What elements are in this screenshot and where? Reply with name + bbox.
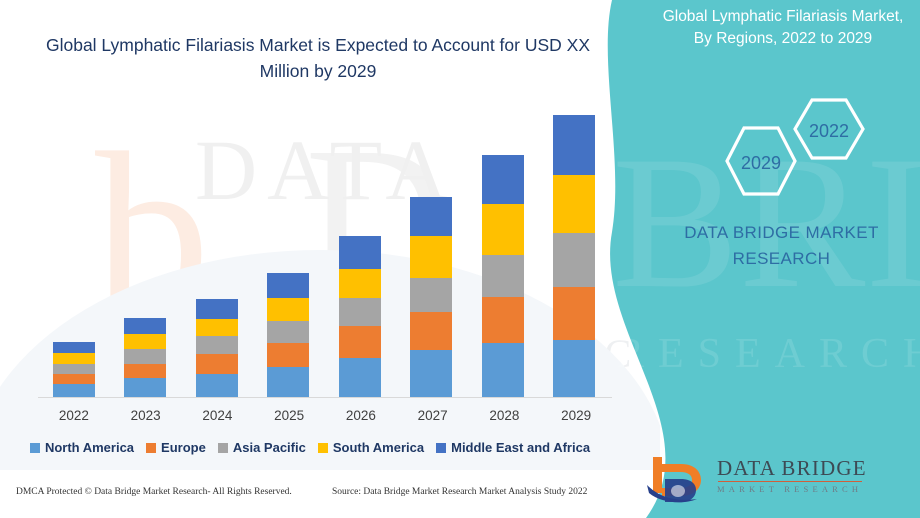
bar-segment[interactable] [410, 312, 452, 350]
bar-segment[interactable] [339, 298, 381, 326]
bar-segment[interactable] [124, 318, 166, 335]
legend-label: Asia Pacific [233, 440, 306, 455]
x-axis-tick-label: 2026 [325, 408, 397, 423]
legend-item[interactable]: Middle East and Africa [436, 440, 590, 455]
x-axis-tick-labels: 20222023202420252026202720282029 [38, 408, 612, 423]
bar-segment[interactable] [124, 334, 166, 349]
footer-dmca-text: DMCA Protected © Data Bridge Market Rese… [16, 487, 292, 497]
bar-slot [396, 110, 468, 397]
bar-segment[interactable] [267, 367, 309, 397]
bar-segment[interactable] [196, 374, 238, 397]
bar-segment[interactable] [53, 364, 95, 374]
bar-segment[interactable] [124, 378, 166, 397]
panel-brand-line1: DATA BRIDGE MARKET [649, 220, 914, 246]
stacked-bar[interactable] [339, 236, 381, 397]
bar-segment[interactable] [482, 204, 524, 255]
legend-item[interactable]: Asia Pacific [218, 440, 306, 455]
x-axis-tick-label: 2024 [182, 408, 254, 423]
x-axis-tick-label: 2027 [397, 408, 469, 423]
bar-segment[interactable] [267, 321, 309, 343]
x-axis-tick-label: 2025 [253, 408, 325, 423]
x-axis-tick-label: 2022 [38, 408, 110, 423]
x-axis-tick-label: 2023 [110, 408, 182, 423]
bar-segment[interactable] [53, 374, 95, 384]
bar-segment[interactable] [482, 297, 524, 343]
legend-label: Middle East and Africa [451, 440, 590, 455]
bar-slot [181, 110, 253, 397]
bar-slot [253, 110, 325, 397]
legend-label: South America [333, 440, 424, 455]
logo-divider [718, 481, 862, 482]
footer: DMCA Protected © Data Bridge Market Rese… [0, 484, 620, 518]
bar-segment[interactable] [196, 354, 238, 374]
bar-segment[interactable] [482, 255, 524, 297]
bar-segment[interactable] [553, 287, 595, 339]
stacked-bar[interactable] [553, 115, 595, 397]
bar-segment[interactable] [267, 343, 309, 367]
bar-segment[interactable] [410, 350, 452, 397]
legend-label: Europe [161, 440, 206, 455]
panel-brand-text: DATA BRIDGE MARKET RESEARCH [649, 220, 914, 271]
bar-slot [110, 110, 182, 397]
bar-segment[interactable] [410, 278, 452, 312]
chart-title: Global Lymphatic Filariasis Market is Ex… [28, 32, 608, 85]
x-axis-line [38, 397, 612, 398]
stacked-bar[interactable] [267, 273, 309, 397]
legend-swatch-icon [30, 443, 40, 453]
bar-segment[interactable] [410, 236, 452, 278]
bar-segment[interactable] [482, 343, 524, 397]
bar-segment[interactable] [553, 340, 595, 397]
panel-brand-line2: RESEARCH [649, 246, 914, 272]
stacked-bar[interactable] [482, 155, 524, 397]
infographic-slide: b D DATA MARKET RESEARCH BRIDGE RESEARCH… [0, 0, 920, 518]
legend-swatch-icon [146, 443, 156, 453]
legend-item[interactable]: Europe [146, 440, 206, 455]
bar-segment[interactable] [410, 197, 452, 237]
legend-swatch-icon [436, 443, 446, 453]
logo-main-text: DATA BRIDGE [717, 457, 867, 479]
bar-segment[interactable] [124, 349, 166, 364]
legend-item[interactable]: North America [30, 440, 134, 455]
panel-title: Global Lymphatic Filariasis Market, By R… [660, 6, 906, 51]
bar-segment[interactable] [553, 233, 595, 287]
bar-segment[interactable] [339, 358, 381, 397]
bar-segment[interactable] [124, 364, 166, 379]
bar-segment[interactable] [53, 342, 95, 353]
stacked-bar[interactable] [53, 342, 95, 397]
bar-slot [38, 110, 110, 397]
footer-source-text: Source: Data Bridge Market Research Mark… [332, 487, 587, 497]
stacked-bar[interactable] [124, 318, 166, 397]
legend-swatch-icon [318, 443, 328, 453]
hexagon-2029-label: 2029 [741, 153, 781, 173]
logo-text-block: DATA BRIDGE MARKET RESEARCH [717, 457, 867, 494]
bar-segment[interactable] [339, 269, 381, 298]
bar-segment[interactable] [482, 155, 524, 204]
bar-slot [324, 110, 396, 397]
bar-segment[interactable] [267, 273, 309, 298]
legend-item[interactable]: South America [318, 440, 424, 455]
chart-legend: North AmericaEuropeAsia PacificSouth Ame… [20, 440, 600, 455]
bar-segment[interactable] [196, 299, 238, 319]
stacked-bar-chart [20, 110, 610, 398]
chart-plot-area [38, 110, 610, 397]
bar-segment[interactable] [553, 175, 595, 233]
stacked-bar[interactable] [196, 299, 238, 397]
data-bridge-logo: DATA BRIDGE MARKET RESEARCH [645, 455, 905, 507]
bar-segment[interactable] [53, 384, 95, 397]
bar-segment[interactable] [53, 353, 95, 363]
stacked-bar[interactable] [410, 197, 452, 397]
legend-swatch-icon [218, 443, 228, 453]
legend-label: North America [45, 440, 134, 455]
bar-segment[interactable] [339, 236, 381, 268]
logo-sub-text: MARKET RESEARCH [717, 484, 867, 494]
x-axis-tick-label: 2029 [540, 408, 612, 423]
bar-segment[interactable] [339, 326, 381, 358]
bar-segment[interactable] [196, 336, 238, 354]
hexagon-badges: 2022 2029 [660, 96, 890, 206]
bar-segment[interactable] [196, 319, 238, 337]
bar-segment[interactable] [267, 298, 309, 321]
bar-slot [467, 110, 539, 397]
x-axis-tick-label: 2028 [469, 408, 541, 423]
bar-segment[interactable] [553, 115, 595, 174]
hexagon-2022-label: 2022 [809, 121, 849, 141]
bar-slot [539, 110, 611, 397]
data-bridge-mark-icon [645, 455, 713, 505]
